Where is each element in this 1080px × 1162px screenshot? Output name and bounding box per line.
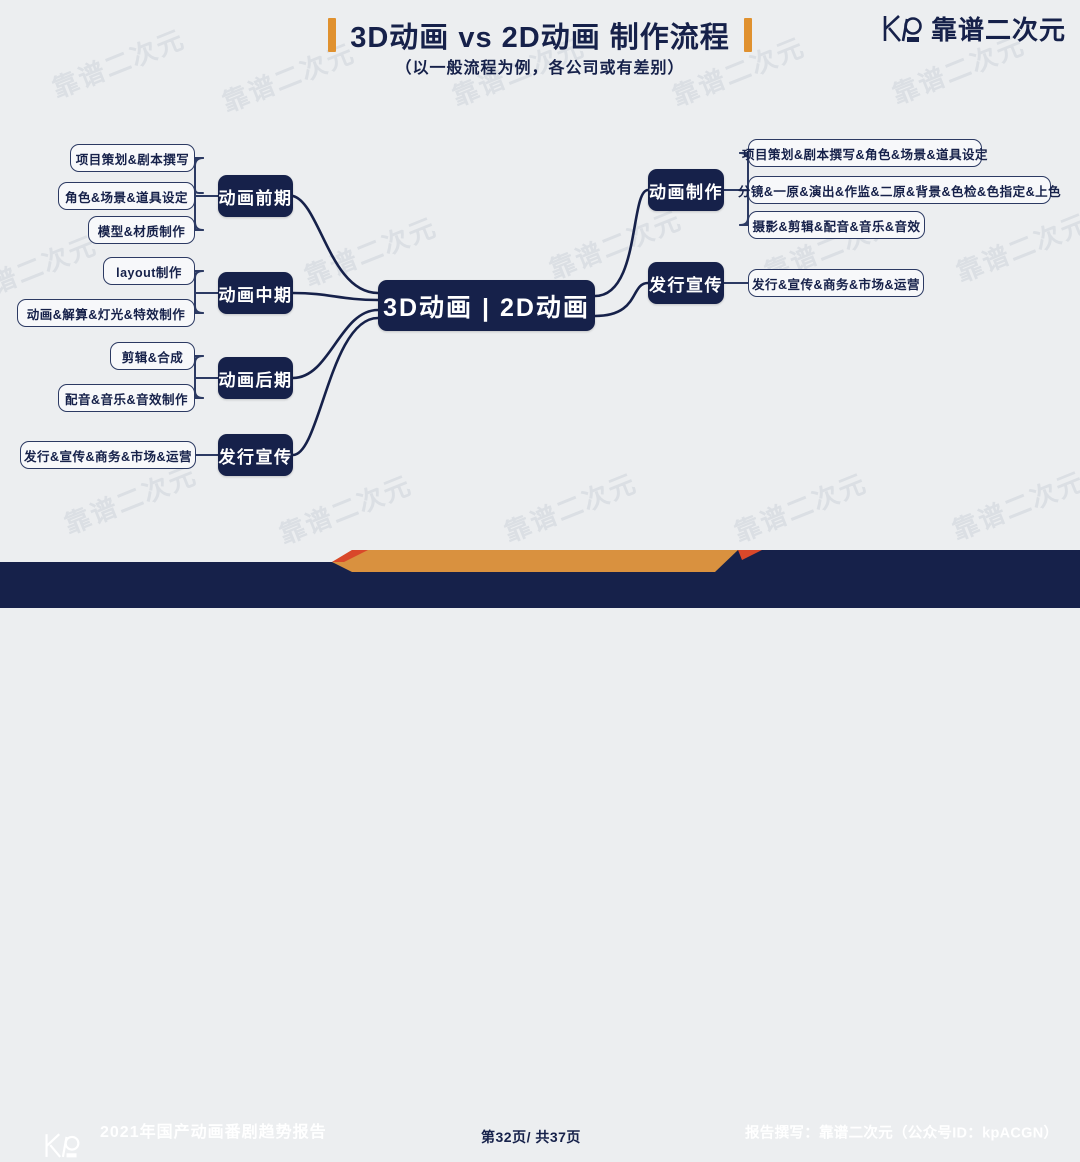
- brand-logo: 靠谱二次元: [880, 10, 1066, 47]
- branch-node-right-1[interactable]: 发行宣传: [648, 262, 724, 304]
- bracket-qianqi-bot: [195, 222, 203, 230]
- bracket-houqi-top: [195, 356, 203, 363]
- connector-center-to-dongqianqi: [293, 196, 378, 293]
- leaf-node-left-2-0[interactable]: 剪辑&合成: [110, 342, 195, 370]
- slide-canvas: 靠谱二次元 靠谱二次元 靠谱二次元 靠谱二次元 靠谱二次元 靠谱二次元 靠谱二次…: [0, 0, 1080, 608]
- connector-center-to-dongzuo: [595, 190, 648, 296]
- branch-node-left-1[interactable]: 动画中期: [218, 272, 293, 314]
- leaf-node-left-1-1[interactable]: 动画&解算&灯光&特效制作: [17, 299, 195, 327]
- leaf-node-left-0-1[interactable]: 角色&场景&道具设定: [58, 182, 195, 210]
- footer-navy-right: [715, 550, 1080, 608]
- footer-report-title: 2021年国产动画番剧趋势报告: [100, 1118, 327, 1142]
- footer-shapes: [0, 548, 1080, 608]
- branch-node-left-2[interactable]: 动画后期: [218, 357, 293, 399]
- kp-monogram-icon: [880, 12, 924, 46]
- footer-author: 报告撰写：靠谱二次元（公众号ID：kpACGN）: [745, 1122, 1058, 1143]
- slide-footer: 2021年国产动画番剧趋势报告 第32页/ 共37页 报告撰写：靠谱二次元（公众…: [0, 548, 1080, 608]
- title-accent-bar-right: [744, 18, 752, 52]
- mindmap: 3D动画 | 2D动画 动画前期 动画中期 动画后期 发行宣传 项目策划&剧本撰…: [0, 88, 1080, 548]
- bracket-zhongqi-top: [195, 271, 203, 278]
- kp-monogram-icon: [42, 1130, 82, 1162]
- leaf-node-left-2-1[interactable]: 配音&音乐&音效制作: [58, 384, 195, 412]
- connector-center-to-zhongqi: [293, 293, 378, 300]
- leaf-node-left-3-0[interactable]: 发行&宣传&商务&市场&运营: [20, 441, 196, 469]
- bracket-dongzuo-bot: [740, 218, 748, 225]
- slide-header: 3D动画 vs 2D动画 制作流程 （以一般流程为例，各公司或有差别） 靠谱二次…: [0, 0, 1080, 88]
- leaf-node-right-0-1[interactable]: 分镜&一原&演出&作监&二原&背景&色检&色指定&上色: [748, 176, 1051, 204]
- leaf-node-left-0-2[interactable]: 模型&材质制作: [88, 216, 195, 244]
- connector-center-to-faxing-right: [595, 283, 648, 316]
- branch-node-right-0[interactable]: 动画制作: [648, 169, 724, 211]
- bracket-houqi-bot: [195, 391, 203, 398]
- connector-center-to-faxing-left: [293, 318, 378, 455]
- title-accent-bar-left: [328, 18, 336, 52]
- leaf-node-right-1-0[interactable]: 发行&宣传&商务&市场&运营: [748, 269, 924, 297]
- leaf-node-right-0-0[interactable]: 项目策划&剧本撰写&角色&场景&道具设定: [748, 139, 982, 167]
- footer-page-number: 第32页/ 共37页: [481, 1127, 581, 1147]
- bracket-zhongqi-bot: [195, 306, 203, 313]
- page-subtitle: （以一般流程为例，各公司或有差别）: [0, 54, 1080, 78]
- leaf-node-left-0-0[interactable]: 项目策划&剧本撰写: [70, 144, 195, 172]
- branch-node-left-0[interactable]: 动画前期: [218, 175, 293, 217]
- leaf-node-left-1-0[interactable]: layout制作: [103, 257, 195, 285]
- branch-node-left-3[interactable]: 发行宣传: [218, 434, 293, 476]
- center-node[interactable]: 3D动画 | 2D动画: [378, 280, 595, 331]
- brand-name: 靠谱二次元: [931, 10, 1066, 47]
- page-title: 3D动画 vs 2D动画 制作流程: [350, 14, 730, 56]
- leaf-node-right-0-2[interactable]: 摄影&剪辑&配音&音乐&音效: [748, 211, 925, 239]
